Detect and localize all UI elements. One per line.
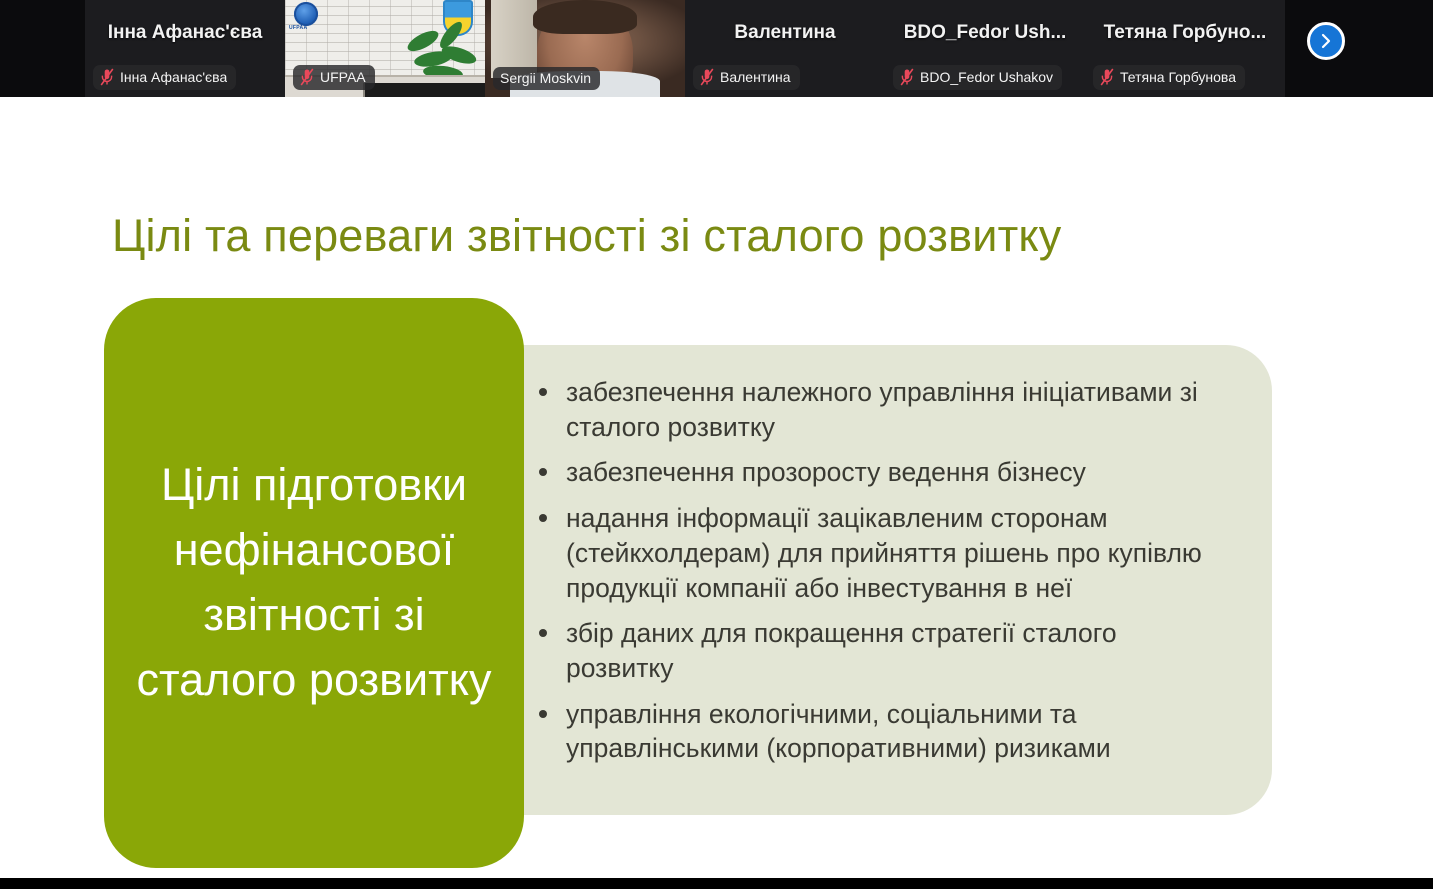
- mic-muted-icon: [900, 68, 914, 86]
- next-participants-page-button[interactable]: [1307, 22, 1345, 60]
- participant-tile[interactable]: Валентина Валентина: [685, 0, 885, 97]
- participant-name-badge: Sergii Moskvin: [493, 67, 600, 90]
- list-item: збір даних для покращення стратегії стал…: [530, 616, 1230, 685]
- participant-badge-label: BDO_Fedor Ushakov: [920, 69, 1053, 85]
- person-hair: [533, 0, 637, 34]
- mic-muted-icon: [300, 68, 314, 86]
- bottom-letterbox-bar: [0, 878, 1433, 889]
- slide-title: Цілі та переваги звітності зі сталого ро…: [112, 210, 1312, 262]
- participant-badge-label: Інна Афанас'єва: [120, 69, 227, 85]
- slide-callout-card: Цілі підготовки нефінансової звітності з…: [104, 298, 524, 868]
- participant-tile[interactable]: Тетяна Горбуно... Тетяна Горбунова: [1085, 0, 1285, 97]
- participant-tile-active-speaker[interactable]: Sergii Moskvin: [485, 0, 685, 97]
- ufpaa-logo-icon: [294, 2, 318, 26]
- participant-name-badge: BDO_Fedor Ushakov: [893, 65, 1062, 90]
- video-filmstrip: Інна Афанас'єва Інна Афанас'єва UFP: [0, 0, 1433, 97]
- plant-decoration-icon: [407, 19, 481, 81]
- mic-muted-icon: [700, 68, 714, 86]
- list-item: забезпечення прозоросту ведення бізнесу: [530, 455, 1230, 490]
- participant-display-name: BDO_Fedor Ush...: [885, 22, 1085, 44]
- participant-display-name: Валентина: [685, 22, 885, 44]
- ufpaa-logo-text: UFPAA: [289, 25, 307, 31]
- participant-name-badge: Тетяна Горбунова: [1093, 65, 1245, 90]
- list-item: надання інформації зацікавленим сторонам…: [530, 501, 1230, 605]
- participant-badge-label: Валентина: [720, 69, 791, 85]
- participant-tile[interactable]: Інна Афанас'єва Інна Афанас'єва: [85, 0, 285, 97]
- chevron-right-icon: [1319, 32, 1333, 50]
- mic-muted-icon: [100, 68, 114, 86]
- participant-name-badge: UFPAA: [293, 65, 375, 90]
- slide-bullet-list: забезпечення належного управління ініціа…: [530, 375, 1230, 777]
- participant-badge-label: UFPAA: [320, 69, 366, 85]
- slide-callout-text: Цілі підготовки нефінансової звітності з…: [130, 453, 498, 712]
- mic-muted-icon: [1100, 68, 1114, 86]
- list-item: забезпечення належного управління ініціа…: [530, 375, 1230, 444]
- participant-display-name: Тетяна Горбуно...: [1085, 22, 1285, 44]
- participant-display-name: Інна Афанас'єва: [85, 22, 285, 44]
- participant-badge-label: Sergii Moskvin: [500, 70, 591, 86]
- participant-badge-label: Тетяна Горбунова: [1120, 69, 1236, 85]
- shared-slide: Цілі та переваги звітності зі сталого ро…: [0, 97, 1433, 878]
- participant-name-badge: Валентина: [693, 65, 800, 90]
- participant-tile[interactable]: BDO_Fedor Ush... BDO_Fedor Ushakov: [885, 0, 1085, 97]
- screen-root: Інна Афанас'єва Інна Афанас'єва UFP: [0, 0, 1433, 889]
- list-item: управління екологічними, соціальними та …: [530, 697, 1230, 766]
- participant-tile-list: Інна Афанас'єва Інна Афанас'єва UFP: [85, 0, 1285, 97]
- participant-tile[interactable]: UFPAA: [285, 0, 485, 97]
- participant-name-badge: Інна Афанас'єва: [93, 65, 236, 90]
